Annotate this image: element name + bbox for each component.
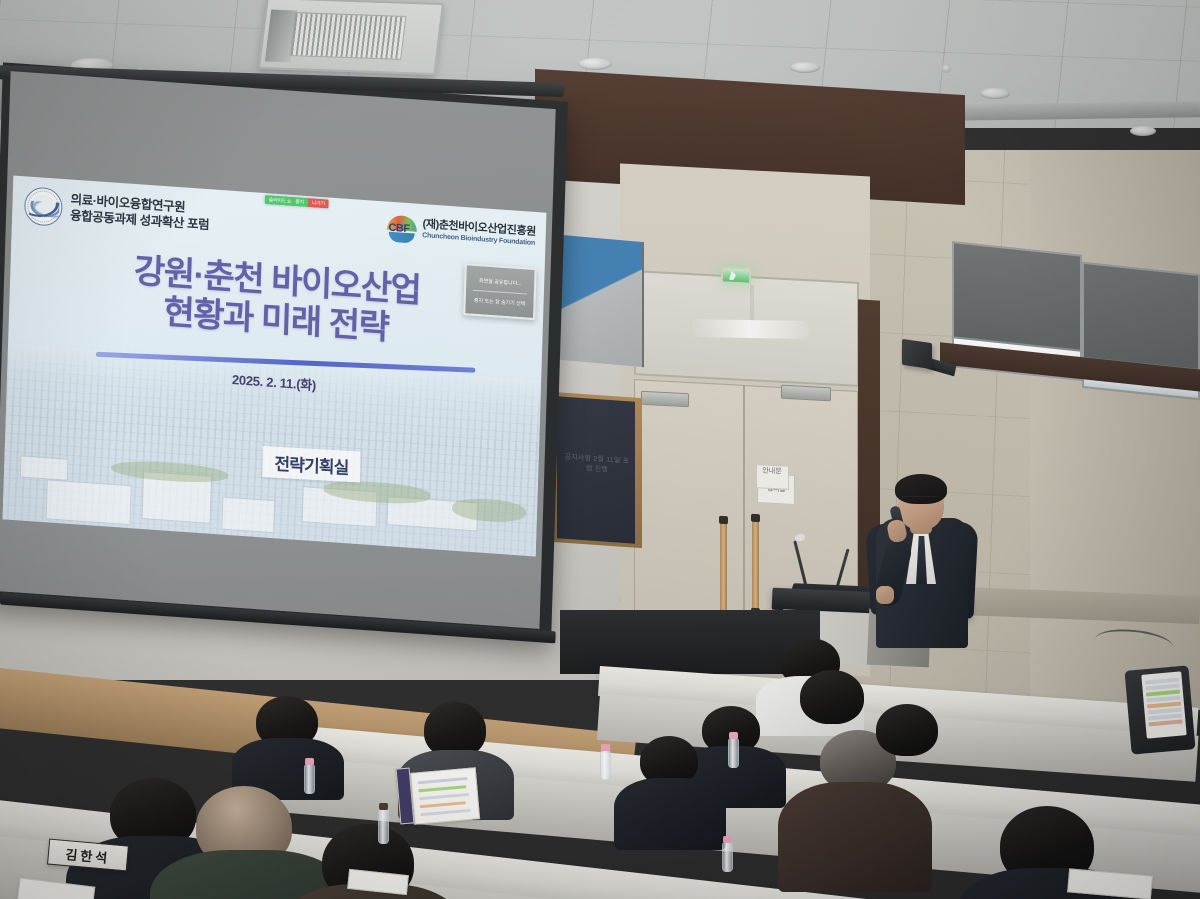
presentation-slide: 의료·바이오융합연구원 융합공동과제 성과확산 포럼 CBF (재)춘천바이오산… [2,175,546,560]
cbf-logo-icon: CBF [385,214,418,244]
exit-sign-icon [721,266,751,285]
ac-grille [290,12,407,60]
partner-name-block: (재)춘천바이오산업진흥원 Chuncheon Bioindustry Foun… [422,218,536,250]
attendee-body [778,782,932,892]
wall-speaker-icon [902,339,932,369]
window-blind[interactable] [1084,264,1198,371]
slideshow-exit-label: 나가기 [312,199,325,207]
slideshow-exit-button[interactable]: 나가기 [308,198,329,208]
slideshow-status-label: 슬라이드 쇼 [269,196,292,205]
attendee-head [876,704,938,756]
projection-screen-surface: 의료·바이오융합연구원 융합공동과제 성과확산 포럼 CBF (재)춘천바이오산… [0,71,556,629]
seal-wave-mark [29,201,59,219]
bottle-cap [305,758,314,765]
water-bottle[interactable] [722,842,733,872]
handle-cap [719,516,728,524]
blackboard-writing: 공지사항 2월 11일 포럼 진행 [562,453,632,524]
bottle-cap [379,803,388,810]
ceiling-light [578,58,612,70]
audience-seating-area: 김한석 [0,610,1200,899]
ceiling-light [790,62,820,73]
university-seal-icon [24,186,63,227]
door-closer-right [781,385,831,402]
bottle-cap [601,744,610,751]
partner-logo: CBF (재)춘천바이오산업진흥원 Chuncheon Bioindustry … [385,214,536,252]
water-bottle[interactable] [728,738,739,768]
presenter-hand-lower [876,586,894,604]
transom-glare [690,319,811,339]
slideshow-stop-label: 중지 [295,198,304,206]
attendee-head [800,670,864,724]
slide-department-label: 전략기획실 [262,446,361,482]
water-bottle[interactable] [378,808,389,844]
wall-note-text: 안내문 [757,466,787,488]
attendee-body [614,778,726,850]
door-handle-right[interactable] [752,520,759,612]
photo-scene: 강의실 공지사항 2월 11일 포럼 진행 안내문 [0,0,1200,899]
bottle-cap [729,732,738,739]
window-blind[interactable] [954,243,1080,351]
door-closer-left [641,391,689,408]
tablet-screen[interactable] [1141,671,1186,738]
cbf-wordmark: CBF [388,222,415,236]
sprinkler-head [942,64,951,73]
ceiling-light [1130,126,1156,136]
handout-document[interactable] [410,767,480,825]
water-bottle[interactable] [600,750,611,780]
door-handle-left[interactable] [720,522,727,614]
water-bottle[interactable] [304,764,315,794]
bottle-cap [723,836,732,843]
slide-organization: 의료·바이오융합연구원 융합공동과제 성과확산 포럼 [70,191,210,233]
glasses-icon [901,496,939,503]
handle-cap [751,514,760,522]
ceiling-light [980,88,1010,99]
